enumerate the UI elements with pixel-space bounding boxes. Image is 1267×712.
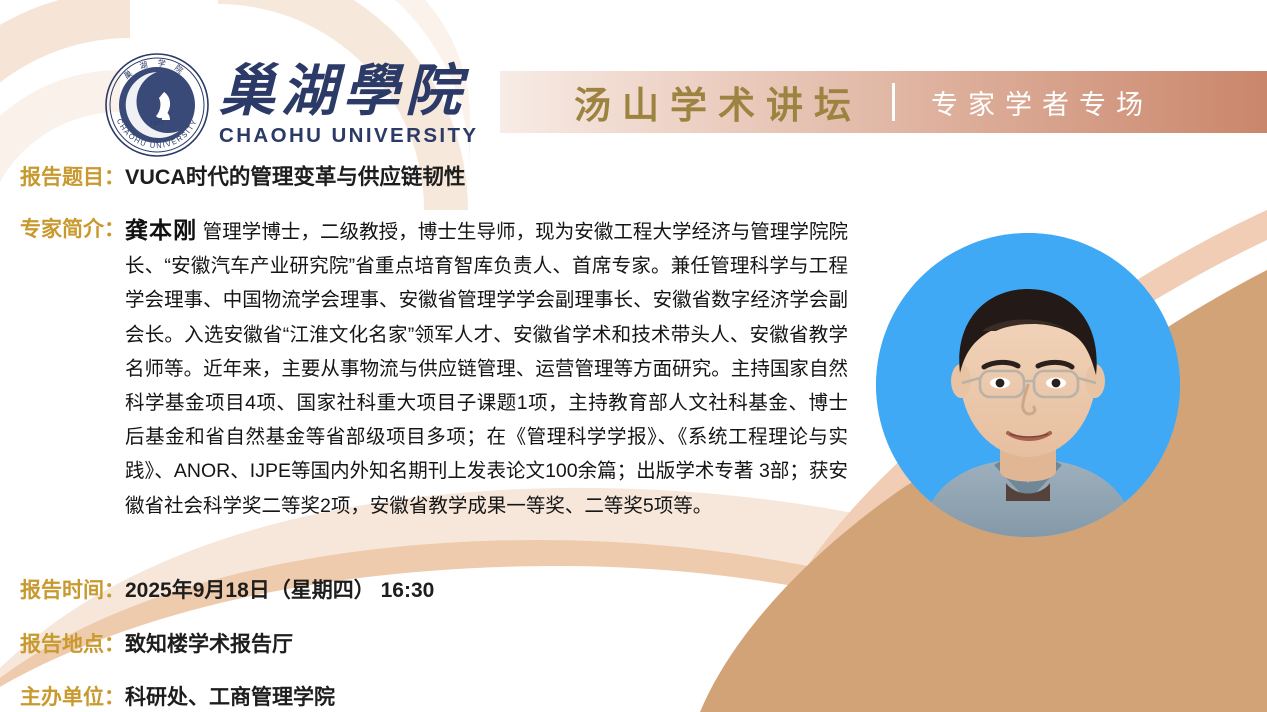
report-place-row: 报告地点： 致知楼学术报告厅 — [20, 628, 293, 658]
report-place-label: 报告地点： — [20, 628, 125, 658]
report-time-value: 2025年9月18日（星期四） 16:30 — [125, 574, 434, 604]
poster-header: 1977 CHAOHU UNIVERSITY 巢湖学院 巢湖學院 CHAOHU … — [0, 0, 1267, 152]
lecture-poster: 1977 CHAOHU UNIVERSITY 巢湖学院 巢湖學院 CHAOHU … — [0, 0, 1267, 712]
speaker-bio-label: 专家简介： — [20, 213, 125, 247]
report-title-label: 报告题目： — [20, 161, 125, 191]
forum-subtitle: 专家学者专场 — [931, 83, 1153, 122]
report-host-label: 主办单位： — [20, 681, 125, 711]
chaohu-university-emblem-icon: 1977 CHAOHU UNIVERSITY 巢湖学院 — [104, 52, 210, 158]
banner-divider — [892, 83, 895, 121]
report-time-label: 报告时间： — [20, 574, 125, 604]
report-time-row: 报告时间： 2025年9月18日（星期四） 16:30 — [20, 574, 434, 604]
speaker-name: 龚本刚 — [125, 217, 197, 243]
speaker-bio-text: 龚本刚 管理学博士，二级教授，博士生导师，现为安徽工程大学经济与管理学院院长、“… — [125, 213, 848, 523]
svg-text:1977: 1977 — [150, 121, 164, 127]
report-host-row: 主办单位： 科研处、工商管理学院 — [20, 681, 335, 711]
report-host-value: 科研处、工商管理学院 — [125, 681, 335, 711]
report-place-value: 致知楼学术报告厅 — [125, 628, 293, 658]
speaker-portrait — [876, 233, 1180, 537]
speaker-bio-row: 专家简介： 龚本刚 管理学博士，二级教授，博士生导师，现为安徽工程大学经济与管理… — [20, 213, 848, 523]
report-title-row: 报告题目： VUCA时代的管理变革与供应链韧性 — [20, 160, 465, 191]
forum-title: 汤山学术讲坛 — [574, 75, 862, 129]
university-name-cn: 巢湖學院 — [219, 64, 467, 120]
university-wordmark: 巢湖學院 CHAOHU UNIVERSITY — [219, 64, 478, 148]
forum-banner: 汤山学术讲坛 专家学者专场 — [500, 71, 1267, 133]
speaker-bio-paragraph: 管理学博士，二级教授，博士生导师，现为安徽工程大学经济与管理学院院长、“安徽汽车… — [125, 221, 848, 517]
university-name-en: CHAOHU UNIVERSITY — [219, 124, 478, 148]
university-logo-block: 1977 CHAOHU UNIVERSITY 巢湖学院 巢湖學院 CHAOHU … — [104, 52, 478, 158]
report-title-value: VUCA时代的管理变革与供应链韧性 — [125, 160, 465, 191]
